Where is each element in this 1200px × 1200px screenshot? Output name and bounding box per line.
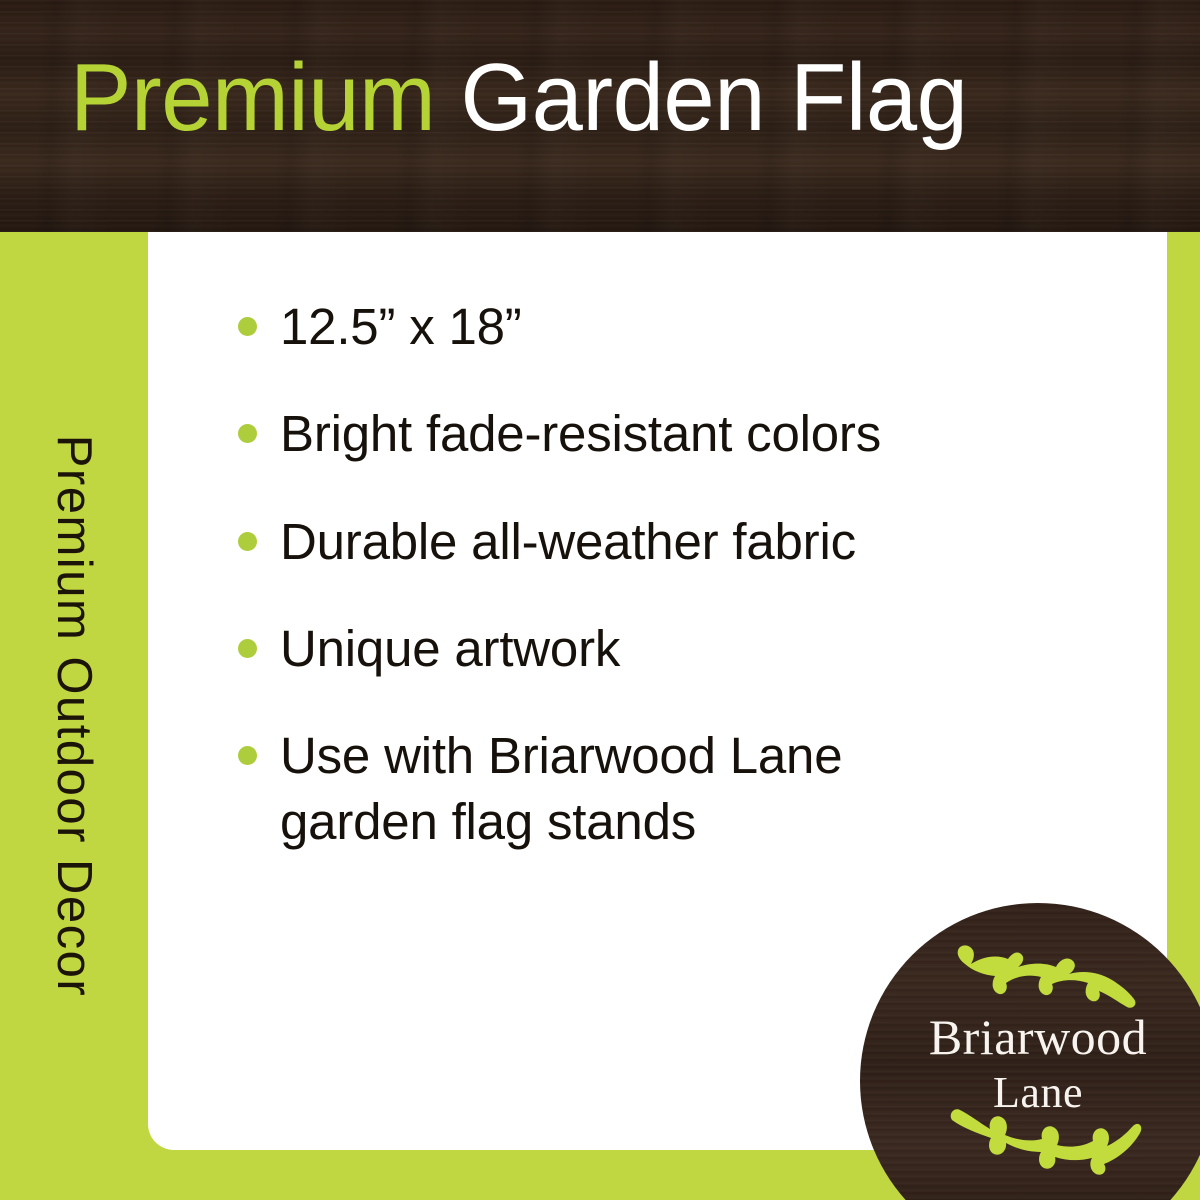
leaf-branch-top-icon bbox=[952, 943, 1138, 1013]
brand-wordmark: Briarwood Lane bbox=[860, 1012, 1200, 1115]
list-item: Unique artwork bbox=[230, 616, 990, 682]
list-item-label: Use with Briarwood Lane garden flag stan… bbox=[280, 727, 842, 850]
list-item: 12.5” x 18” bbox=[230, 294, 990, 360]
page-title: Premium Garden Flag bbox=[70, 50, 967, 146]
side-rail-label: Premium Outdoor Decor bbox=[46, 435, 102, 998]
list-item: Durable all-weather fabric bbox=[230, 509, 990, 575]
list-item-label: Durable all-weather fabric bbox=[280, 513, 856, 570]
bullet-icon bbox=[238, 532, 257, 551]
list-item: Use with Briarwood Lane garden flag stan… bbox=[230, 723, 990, 856]
bullet-icon bbox=[238, 317, 257, 336]
feature-list: 12.5” x 18” Bright fade-resistant colors… bbox=[230, 294, 990, 856]
brand-name-primary: Briarwood bbox=[860, 1012, 1200, 1062]
leaf-branch-bottom-icon bbox=[948, 1103, 1144, 1177]
list-item-label: Bright fade-resistant colors bbox=[280, 405, 881, 462]
list-item: Bright fade-resistant colors bbox=[230, 401, 990, 467]
brand-logo-inner: Briarwood Lane bbox=[860, 903, 1200, 1200]
bullet-icon bbox=[238, 424, 257, 443]
list-item-label: 12.5” x 18” bbox=[280, 298, 522, 355]
header-banner: Premium Garden Flag bbox=[0, 0, 1200, 232]
list-item-label: Unique artwork bbox=[280, 620, 620, 677]
page-title-accent: Premium bbox=[70, 44, 435, 151]
brand-logo-badge: Briarwood Lane bbox=[860, 903, 1200, 1200]
page-title-main: Garden Flag bbox=[435, 44, 967, 151]
bullet-icon bbox=[238, 746, 257, 765]
side-rail: Premium Outdoor Decor bbox=[0, 232, 148, 1200]
product-info-panel: Premium Garden Flag Premium Outdoor Deco… bbox=[0, 0, 1200, 1200]
bullet-icon bbox=[238, 639, 257, 658]
